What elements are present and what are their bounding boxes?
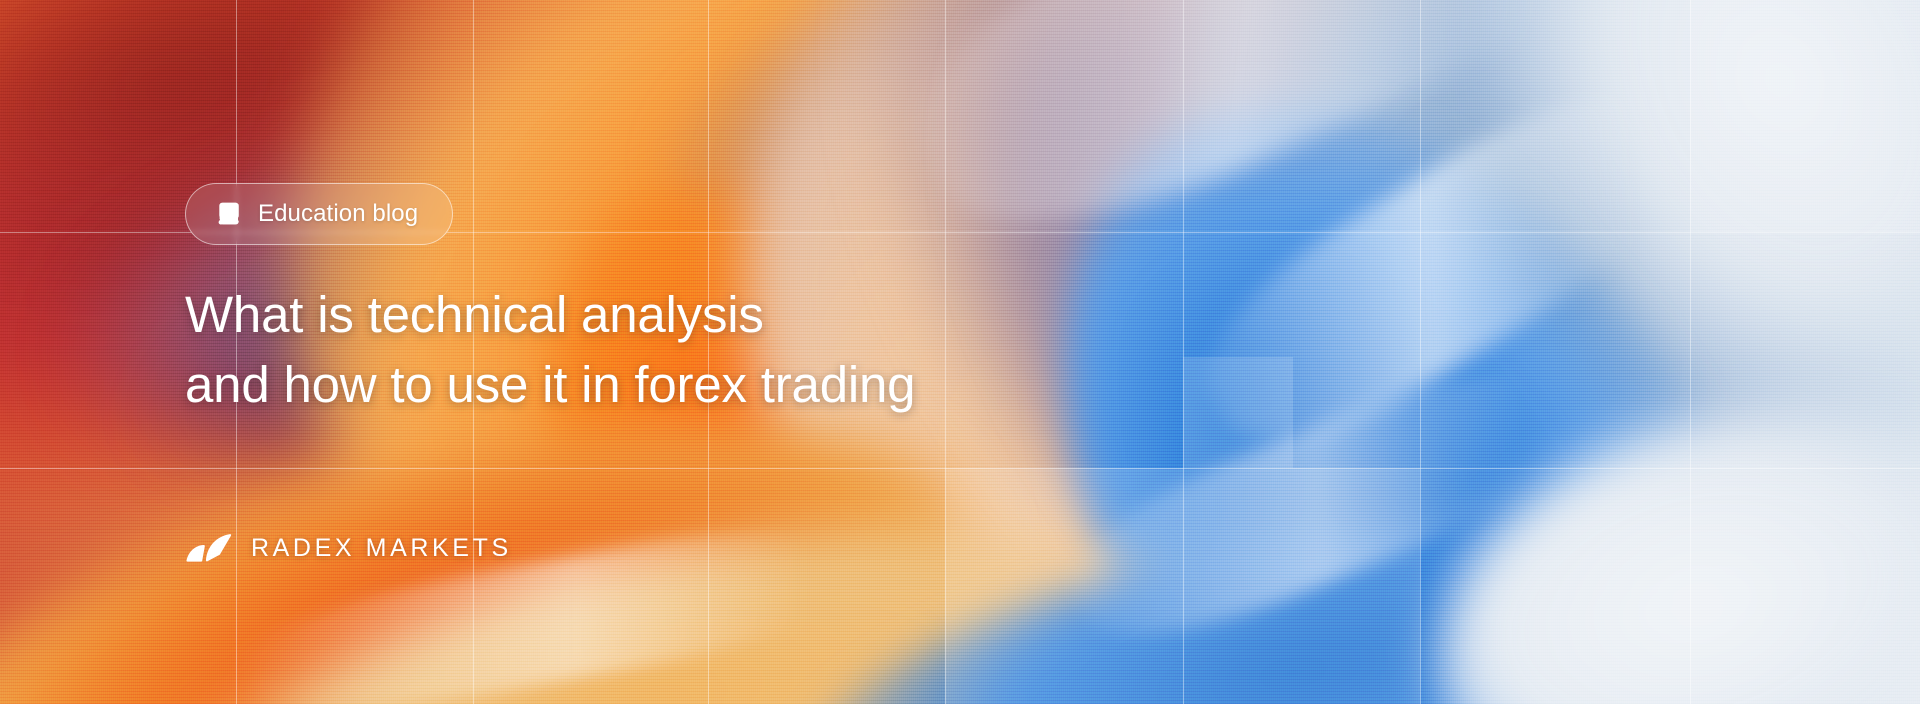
page-title: What is technical analysis and how to us… bbox=[185, 280, 915, 420]
headline-line-1: What is technical analysis bbox=[185, 280, 915, 350]
radex-wings-icon bbox=[185, 533, 233, 563]
hero-content: Education blog What is technical analysi… bbox=[185, 0, 1285, 704]
book-icon bbox=[216, 201, 242, 227]
brand-name: RADEX MARKETS bbox=[251, 534, 512, 563]
education-blog-badge[interactable]: Education blog bbox=[185, 183, 453, 245]
hero-banner: Education blog What is technical analysi… bbox=[0, 0, 1920, 704]
headline-line-2: and how to use it in forex trading bbox=[185, 350, 915, 420]
brand-lockup: RADEX MARKETS bbox=[185, 533, 512, 563]
badge-label: Education blog bbox=[258, 200, 418, 228]
